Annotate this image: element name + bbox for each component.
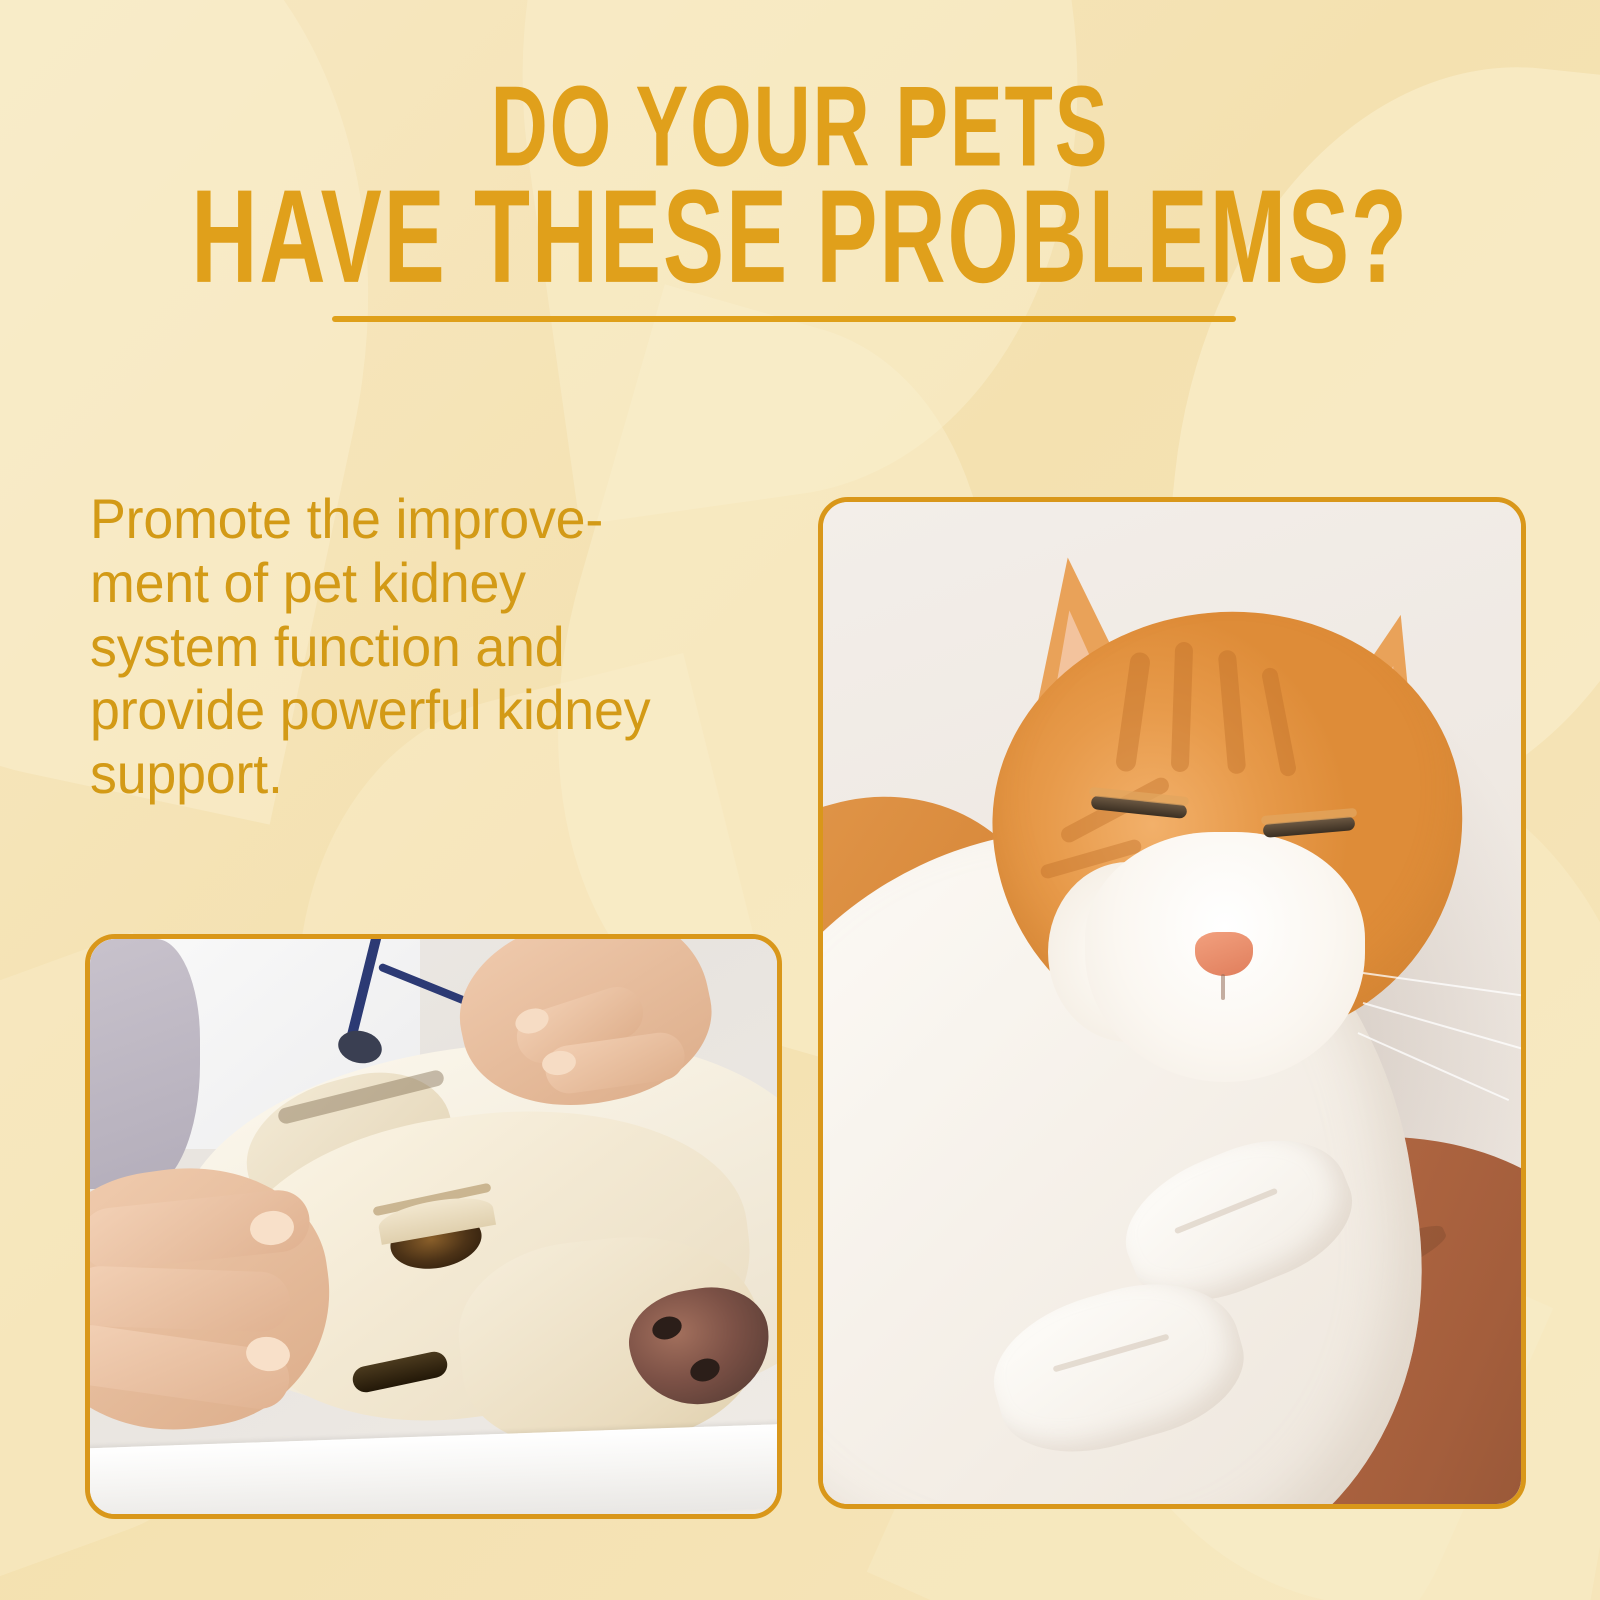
headline-line-2: HAVE THESE PROBLEMS?: [80, 174, 1520, 301]
dog-photo: [90, 939, 777, 1514]
cat-photo-frame: [818, 497, 1526, 1509]
vet-hand-lower-finger-2: [90, 1265, 291, 1333]
dog-photo-frame: [85, 934, 782, 1519]
cat-mouth: [1221, 974, 1225, 1000]
headline-underline: [332, 316, 1236, 322]
poster-canvas: DO YOUR PETS HAVE THESE PROBLEMS? Promot…: [0, 0, 1600, 1600]
body-copy: Promote the improve- ment of pet kidney …: [90, 487, 724, 806]
cat-photo: [823, 502, 1521, 1504]
vet-shoulder: [90, 939, 200, 1189]
headline: DO YOUR PETS HAVE THESE PROBLEMS?: [0, 72, 1600, 272]
